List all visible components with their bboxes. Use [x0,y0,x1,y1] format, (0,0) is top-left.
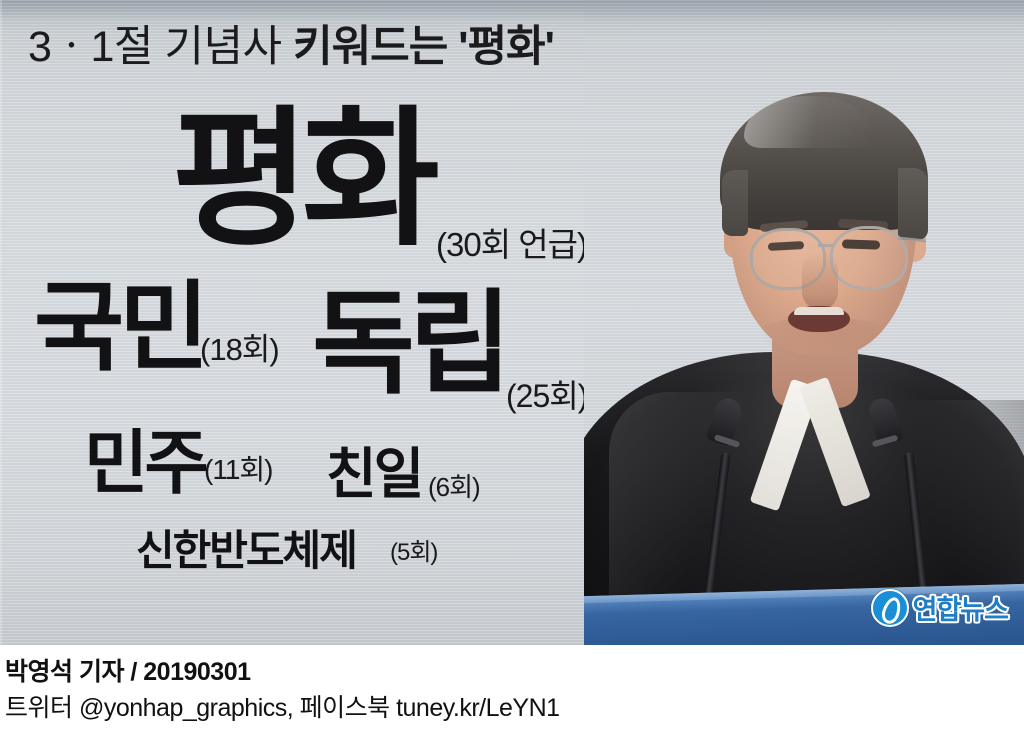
word-cloud-term-democracy: 민주 [84,428,205,498]
word-cloud-term-new-peninsula: 신한반도체제 [136,530,356,572]
yonhap-logo-icon [871,589,909,627]
word-cloud-count-projapanese: (6회) [428,474,480,500]
social-handles: 트위터 @yonhap_graphics, 페이스북 tuney.kr/LeYN… [5,688,560,724]
word-cloud-term-projapanese: 친일 [326,447,421,502]
word-cloud-count-people: (18회) [200,334,279,365]
yonhap-news-watermark: 연합뉴스 [871,588,1008,627]
page-title-bold: 키워드는 '평화' [293,23,554,71]
speaker-teeth [794,307,844,315]
word-cloud-count-new-peninsula: (5회) [390,541,437,565]
page-title-light: 3ㆍ1절 기념사 [28,23,293,71]
caption-bar: 박영석 기자 / 20190301 트위터 @yonhap_graphics, … [0,645,1024,736]
infographic-page: 3ㆍ1절 기념사 키워드는 '평화' 평화 (30회 언급) 국민 (18회) … [0,0,1024,736]
glasses-lens-right [830,226,908,290]
speaker-sideburn-right [898,168,928,240]
graphic-image-area: 3ㆍ1절 기념사 키워드는 '평화' 평화 (30회 언급) 국민 (18회) … [0,0,1024,645]
word-cloud-term-peace: 평화 [172,104,432,254]
word-cloud-term-independence: 독립 [312,288,506,400]
speaker-photo: 연합뉴스 [584,0,1024,645]
reporter-credit: 박영석 기자 / 20190301 [5,652,251,688]
word-cloud-term-people: 국민 [34,278,204,376]
word-cloud-count-democracy: (11회) [204,456,272,484]
page-title: 3ㆍ1절 기념사 키워드는 '평화' [28,22,554,72]
speaker-nose [802,252,838,310]
word-cloud-count-independence: (25회) [506,380,587,412]
speaker-sideburn-left [722,170,748,236]
glasses-bridge [818,244,834,247]
word-cloud-count-peace: (30회 언급) [436,228,587,261]
yonhap-logo-text: 연합뉴스 [913,588,1008,627]
